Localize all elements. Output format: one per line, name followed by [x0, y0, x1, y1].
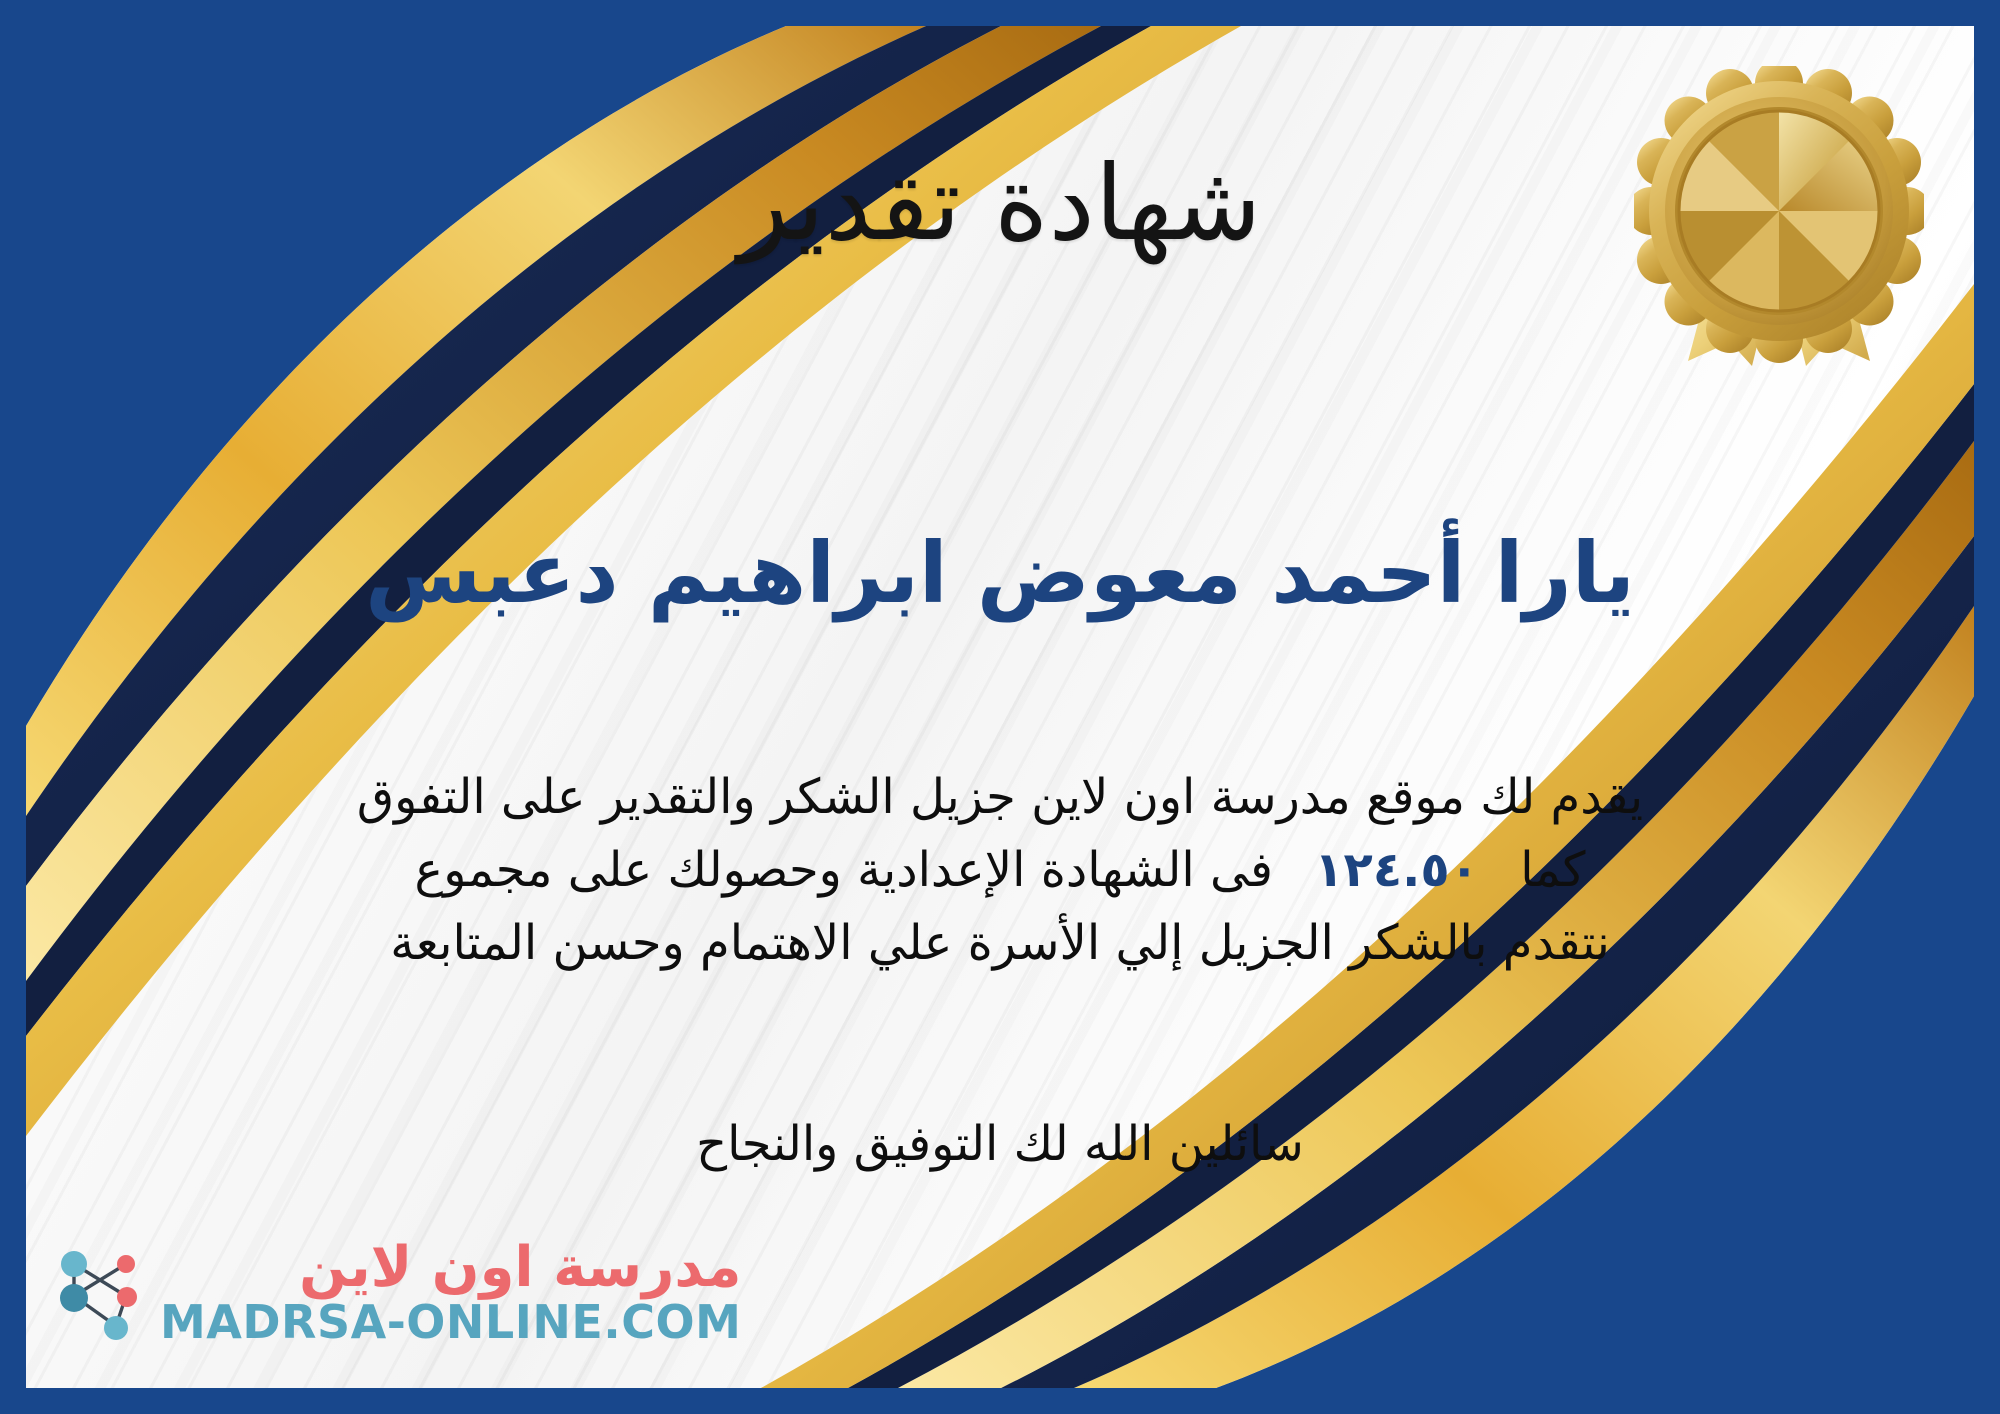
certificate-title: شهادة تقدير: [26, 144, 1974, 264]
network-nodes-icon: [54, 1240, 150, 1344]
logo-text-group: مدرسة اون لاين MADRSA-ONLINE.COM: [160, 1239, 741, 1346]
certificate-paper: شهادة تقدير يارا أحمد معوض ابراهيم دعبس …: [26, 26, 1974, 1388]
total-score-value: ١٢٤.٥٠: [1288, 834, 1505, 907]
certificate-body: يقدم لك موقع مدرسة اون لاين جزيل الشكر و…: [146, 761, 1854, 980]
body-line-3: نتقدم بالشكر الجزيل إلي الأسرة علي الاهت…: [146, 907, 1854, 980]
site-logo[interactable]: مدرسة اون لاين MADRSA-ONLINE.COM: [54, 1239, 741, 1346]
body-line-1: يقدم لك موقع مدرسة اون لاين جزيل الشكر و…: [146, 761, 1854, 834]
body-line-2-suffix: كما: [1520, 842, 1585, 898]
body-line-2: كما ١٢٤.٥٠ فى الشهادة الإعدادية وحصولك ع…: [146, 834, 1854, 907]
closing-wish: سائلين الله لك التوفيق والنجاح: [26, 1116, 1974, 1172]
body-line-2-prefix: فى الشهادة الإعدادية وحصولك على مجموع: [415, 842, 1273, 898]
recipient-name: يارا أحمد معوض ابراهيم دعبس: [26, 523, 1974, 624]
logo-arabic-name: مدرسة اون لاين: [299, 1239, 741, 1298]
certificate-root: شهادة تقدير يارا أحمد معوض ابراهيم دعبس …: [0, 0, 2000, 1414]
certificate-content: شهادة تقدير يارا أحمد معوض ابراهيم دعبس …: [26, 26, 1974, 1388]
logo-website-url: MADRSA-ONLINE.COM: [160, 1298, 741, 1346]
